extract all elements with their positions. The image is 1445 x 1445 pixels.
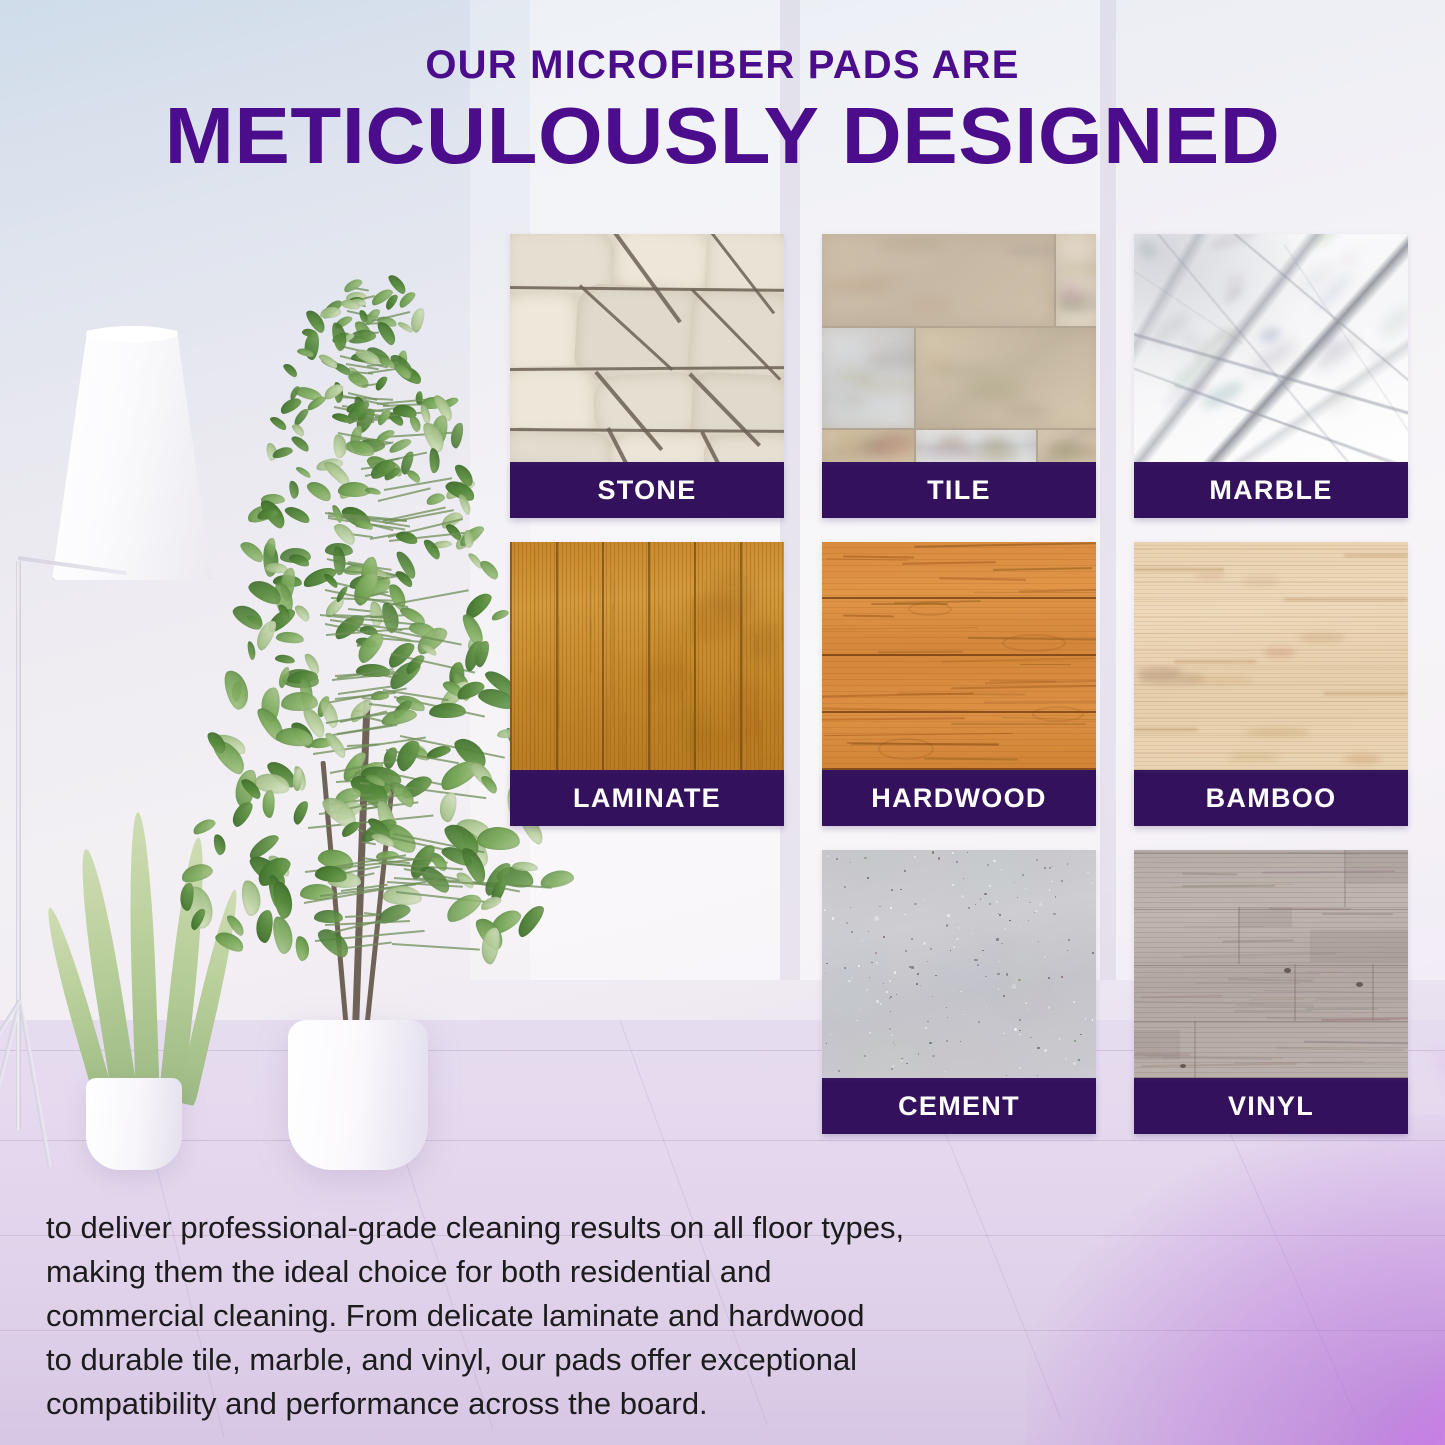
laminate-grain	[534, 550, 536, 666]
ficus-leaf	[437, 790, 459, 823]
cement-speck	[850, 862, 851, 863]
cement-speck	[946, 924, 948, 926]
cement-speck	[1019, 1030, 1021, 1032]
floor-type-label: VINYL	[1134, 1078, 1408, 1134]
cement-speck	[1020, 926, 1021, 927]
cement-speck	[917, 973, 919, 975]
cement-speck	[932, 996, 933, 997]
ficus-leaf	[282, 361, 300, 379]
cement-speck	[930, 948, 931, 949]
cement-speck	[867, 877, 869, 879]
body-copy: to deliver professional-grade cleaning r…	[46, 1206, 1106, 1426]
laminate-blotch	[530, 669, 551, 710]
laminate-grain	[579, 681, 581, 770]
cement-mottle	[924, 1040, 1013, 1078]
vinyl-plank-tone	[1310, 930, 1408, 962]
cement-speck	[1092, 1019, 1094, 1021]
vinyl-texture-swatch	[1134, 850, 1408, 1078]
tile-mottle	[923, 354, 951, 373]
cement-speck	[953, 991, 954, 992]
cement-speck	[880, 1003, 882, 1005]
cement-speck	[824, 909, 826, 911]
laminate-grain	[654, 557, 656, 662]
laminate-grain	[558, 617, 560, 730]
cement-speck	[1091, 882, 1093, 884]
cement-speck	[961, 895, 964, 898]
bamboo-node	[1174, 660, 1256, 663]
bamboo-node	[1344, 554, 1408, 557]
cement-speck	[869, 1032, 871, 1034]
vinyl-grain	[1264, 972, 1320, 974]
tile-mottle	[833, 367, 874, 383]
hardwood-knot	[1032, 706, 1084, 722]
ficus-stem	[333, 724, 398, 736]
cement-speck	[1029, 902, 1031, 904]
ficus-leaf	[254, 909, 275, 944]
hardwood-grain	[984, 701, 1096, 704]
cement-speck	[890, 996, 892, 998]
floor-type-grid: STONETILEMARBLELAMINATEHARDWOODBAMBOOCEM…	[510, 234, 1410, 1150]
laminate-grain	[781, 592, 783, 642]
laminate-texture-swatch	[510, 542, 784, 770]
vinyl-grain	[1322, 913, 1393, 915]
vinyl-plank-tone	[1346, 850, 1408, 884]
cement-speck	[890, 1011, 891, 1012]
cement-mottle	[949, 901, 989, 938]
stone-texture-swatch	[510, 234, 784, 462]
cement-speck	[904, 914, 905, 915]
ficus-leaf	[490, 608, 509, 622]
headline-line-1: OUR MICROFIBER PADS ARE	[0, 44, 1445, 86]
cement-speck	[883, 936, 885, 938]
cement-speck	[1070, 887, 1071, 888]
cement-speck	[1035, 910, 1038, 913]
tile-mottle	[1058, 261, 1096, 274]
laminate-grain	[650, 682, 652, 770]
hardwood-grain	[951, 723, 1086, 725]
vinyl-grain	[1304, 1041, 1408, 1045]
cement-speck	[1080, 1034, 1082, 1036]
cement-speck	[1003, 1033, 1005, 1035]
laminate-grain	[759, 720, 761, 770]
cement-speck	[938, 857, 940, 859]
stone-piece	[510, 292, 578, 374]
floor-type-card-vinyl[interactable]: VINYL	[1134, 850, 1408, 1138]
cement-speck	[1068, 939, 1070, 941]
cement-mottle	[956, 850, 1032, 894]
cement-speck	[832, 917, 834, 919]
cement-speck	[844, 886, 846, 888]
ficus-leaf	[333, 434, 347, 459]
large-planter-pot	[288, 1020, 428, 1170]
marble-texture-swatch	[1134, 234, 1408, 462]
hardwood-grain	[974, 592, 1096, 594]
cement-speck	[1087, 872, 1088, 873]
bamboo-flecks	[1344, 754, 1380, 764]
cement-speck	[946, 1007, 947, 1008]
ficus-leaf	[353, 629, 387, 666]
cement-mottle	[853, 850, 892, 872]
cement-speck	[929, 1042, 932, 1045]
cement-speck	[1078, 1059, 1080, 1061]
vinyl-grain	[1223, 939, 1294, 942]
cement-speck	[889, 998, 890, 999]
laminate-blotch	[709, 572, 755, 619]
marble-mottle	[1339, 251, 1360, 268]
floor-type-label: TILE	[822, 462, 1096, 518]
floor-type-card-cement[interactable]: CEMENT	[822, 850, 1096, 1138]
bamboo-node	[1134, 728, 1198, 731]
cement-speck	[1039, 903, 1041, 905]
cement-speck	[1019, 1067, 1021, 1069]
headline-block: OUR MICROFIBER PADS ARE METICULOUSLY DES…	[0, 44, 1445, 176]
ficus-leaf	[212, 834, 227, 857]
cement-speck	[1092, 952, 1094, 954]
vinyl-grain	[1316, 997, 1408, 1000]
ficus-leaf	[478, 557, 502, 582]
small-planter-pot	[86, 1078, 182, 1170]
cement-speck	[894, 971, 897, 974]
vinyl-grain	[1309, 972, 1408, 974]
cement-speck	[1067, 950, 1068, 951]
bamboo-node	[1324, 692, 1408, 695]
cement-speck	[1014, 1028, 1017, 1031]
ficus-stem	[362, 841, 376, 845]
bamboo-flecks	[1227, 753, 1279, 760]
laminate-blotch	[744, 622, 775, 659]
cement-mottle	[846, 1036, 931, 1071]
cement-speck	[947, 1017, 948, 1018]
cement-speck	[1085, 1018, 1087, 1020]
cement-speck	[1061, 976, 1063, 978]
vinyl-grain	[1195, 983, 1300, 985]
tile-mottle	[1006, 402, 1049, 419]
ficus-leaf	[478, 894, 502, 912]
cement-speck	[978, 1021, 980, 1023]
ficus-leaf	[222, 667, 252, 711]
cement-speck	[889, 1028, 891, 1030]
floor-type-card-stone[interactable]: STONE	[510, 234, 784, 522]
hardwood-grain	[993, 567, 1092, 571]
floor-type-card-marble[interactable]: MARBLE	[1134, 234, 1408, 522]
cement-speck	[1037, 1075, 1038, 1076]
vinyl-grain	[1228, 978, 1313, 982]
floor-lamp-pole	[16, 560, 21, 1130]
cement-speck	[1025, 888, 1026, 889]
bamboo-flecks	[1242, 575, 1278, 587]
laminate-grain	[585, 597, 587, 630]
cement-speck	[868, 931, 869, 932]
floor-type-label: CEMENT	[822, 1078, 1096, 1134]
tile-mottle	[867, 442, 895, 457]
cement-speck	[856, 1020, 857, 1021]
cement-mottle	[822, 934, 881, 996]
cement-speck	[890, 907, 892, 909]
ficus-leaf	[271, 879, 295, 919]
ficus-leaf	[283, 504, 312, 527]
ficus-stem	[392, 943, 480, 951]
cement-speck	[986, 1006, 987, 1007]
cement-speck	[904, 870, 907, 873]
cement-speck	[1044, 956, 1046, 958]
cement-speck	[1073, 1001, 1075, 1003]
bamboo-flecks	[1195, 574, 1225, 579]
floor-type-label: LAMINATE	[510, 770, 784, 826]
cement-speck	[925, 1027, 927, 1029]
cement-speck	[900, 889, 902, 891]
marble-mottle	[1310, 234, 1341, 249]
floor-type-card-bamboo[interactable]: BAMBOO	[1134, 542, 1408, 830]
marble-mottle	[1377, 302, 1408, 340]
cement-speck	[905, 950, 907, 952]
ficus-leaf	[274, 653, 295, 664]
laminate-grain	[613, 581, 615, 611]
ficus-leaf	[295, 465, 312, 480]
hardwood-grain	[939, 577, 1026, 580]
ficus-leaf	[318, 352, 340, 370]
ficus-leaf	[262, 790, 276, 818]
tile-mottle	[910, 297, 955, 312]
cement-speck	[1067, 863, 1068, 864]
hardwood-grain	[822, 627, 978, 630]
cement-speck	[1049, 889, 1050, 890]
cement-speck	[916, 966, 917, 967]
vinyl-grain	[1277, 1047, 1404, 1050]
hardwood-grain	[878, 651, 963, 653]
bamboo-flecks	[1184, 676, 1253, 683]
cement-speck	[932, 851, 934, 853]
vinyl-grain	[1306, 1008, 1378, 1010]
laminate-grain	[589, 546, 591, 676]
cement-speck	[1009, 920, 1010, 921]
tile-mottle	[1047, 445, 1096, 460]
cement-speck	[950, 950, 951, 951]
cement-speck	[976, 959, 978, 961]
vinyl-grain	[1263, 990, 1374, 993]
hardwood-grain	[924, 758, 1018, 761]
ficus-leaf	[314, 909, 343, 923]
floor-lamp-shade-top	[86, 326, 178, 342]
cement-speck	[927, 961, 928, 962]
cement-speck	[916, 983, 918, 985]
ficus-leaf	[449, 422, 465, 449]
laminate-grain	[599, 573, 601, 610]
laminate-grain	[619, 653, 621, 770]
vinyl-grain	[1182, 872, 1237, 875]
cement-speck	[914, 856, 916, 858]
cement-speck	[1034, 912, 1036, 914]
tile-mottle	[1006, 245, 1062, 256]
cement-speck	[911, 966, 914, 969]
ficus-leaf	[405, 468, 422, 484]
hardwood-grain	[843, 614, 894, 617]
ficus-leaf	[180, 861, 215, 885]
vinyl-grain	[1250, 999, 1305, 1001]
vinyl-grain	[1142, 995, 1223, 998]
ficus-leaf	[240, 879, 262, 917]
hardwood-grain	[824, 733, 1013, 736]
tile-mottle	[863, 271, 907, 288]
floor-type-card-laminate[interactable]: LAMINATE	[510, 542, 784, 830]
cement-speck	[923, 942, 925, 944]
tile-texture-swatch	[822, 234, 1096, 462]
hardwood-grain	[1020, 664, 1071, 666]
bamboo-node	[1284, 598, 1408, 601]
ficus-leaf	[290, 799, 310, 826]
laminate-blotch	[641, 662, 689, 691]
bamboo-flecks	[1264, 648, 1295, 658]
ficus-leaf	[425, 491, 446, 506]
cement-speck	[953, 946, 955, 948]
vinyl-grain	[1320, 1016, 1408, 1020]
cement-speck	[1019, 1034, 1021, 1036]
vinyl-knot	[1356, 982, 1363, 987]
body-copy-line: commercial cleaning. From delicate lamin…	[46, 1294, 1106, 1338]
laminate-grain	[612, 605, 614, 726]
cement-speck	[1028, 920, 1029, 921]
laminate-grain	[624, 712, 626, 770]
cement-speck	[980, 955, 981, 956]
hardwood-grain	[951, 685, 1096, 690]
laminate-grain	[665, 687, 667, 763]
cement-speck	[952, 852, 954, 854]
cement-mottle	[1032, 1014, 1079, 1065]
hardwood-knot	[908, 602, 952, 616]
tile-mottle	[980, 443, 1020, 462]
ficus-leaf	[305, 478, 335, 505]
body-copy-line: compatibility and performance across the…	[46, 1382, 1106, 1426]
hardwood-knot	[878, 738, 934, 760]
cement-speck	[889, 980, 891, 982]
cement-speck	[920, 985, 921, 986]
ficus-leaf	[373, 374, 389, 392]
cement-speck	[952, 884, 954, 886]
cement-speck	[891, 889, 893, 891]
body-copy-line: making them the ideal choice for both re…	[46, 1250, 1106, 1294]
vinyl-grain	[1269, 907, 1351, 909]
ficus-leaf	[295, 935, 311, 961]
cement-speck	[989, 903, 991, 905]
ficus-leaf	[228, 799, 255, 829]
ficus-leaf	[346, 696, 375, 725]
hardwood-grain	[914, 543, 1096, 549]
cement-speck	[911, 938, 913, 940]
floor-type-label: BAMBOO	[1134, 770, 1408, 826]
ficus-leaf	[319, 305, 341, 319]
laminate-blotch	[732, 681, 756, 744]
cement-speck	[1061, 880, 1063, 882]
cement-speck	[886, 991, 888, 993]
vinyl-plank-seam	[1194, 1021, 1196, 1078]
cement-speck	[838, 1070, 840, 1072]
floor-type-card-tile[interactable]: TILE	[822, 234, 1096, 522]
cement-speck	[1048, 977, 1050, 979]
cement-speck	[851, 931, 853, 933]
cement-speck	[1019, 1019, 1021, 1021]
laminate-grain	[775, 621, 777, 740]
cement-mottle	[929, 963, 1014, 992]
body-copy-line: to deliver professional-grade cleaning r…	[46, 1206, 1106, 1250]
hardwood-grain	[822, 707, 981, 712]
vinyl-grain	[1307, 1062, 1408, 1066]
ficus-leaf	[246, 641, 256, 661]
cement-speck	[846, 922, 848, 924]
cement-speck	[830, 1034, 831, 1035]
laminate-grain	[538, 623, 540, 659]
body-copy-line: to durable tile, marble, and vinyl, our …	[46, 1338, 1106, 1382]
tile-mottle	[840, 393, 867, 409]
ficus-foliage	[180, 275, 540, 965]
cement-speck	[1055, 896, 1057, 898]
cement-speck	[956, 938, 958, 940]
floor-type-label: HARDWOOD	[822, 770, 1096, 826]
cement-speck	[1073, 1062, 1075, 1064]
cement-speck	[1004, 928, 1006, 930]
cement-speck	[914, 884, 916, 886]
headline-line-2: METICULOUSLY DESIGNED	[0, 96, 1445, 176]
ficus-leaf	[280, 692, 318, 711]
marble-mottle	[1135, 237, 1159, 262]
marble-mottle	[1257, 324, 1282, 346]
cement-speck	[980, 898, 982, 900]
ficus-leaf	[191, 816, 217, 836]
cement-speck	[836, 858, 838, 860]
cement-speck	[827, 855, 829, 857]
cement-speck	[826, 1043, 828, 1045]
hardwood-grain	[822, 717, 965, 720]
marble-mottle	[1211, 325, 1239, 345]
bamboo-flecks	[1245, 728, 1309, 736]
floor-type-card-hardwood[interactable]: HARDWOOD	[822, 542, 1096, 830]
vinyl-grain	[1289, 852, 1359, 854]
vinyl-grain	[1141, 1063, 1297, 1068]
cement-speck	[998, 961, 999, 962]
floor-type-label: STONE	[510, 462, 784, 518]
vinyl-grain	[1185, 926, 1263, 927]
tile-mottle	[1058, 301, 1087, 312]
cement-speck	[963, 1014, 964, 1015]
hardwood-knot	[1002, 634, 1066, 652]
laminate-grain	[607, 684, 609, 770]
cement-speck	[879, 906, 880, 907]
cement-speck	[1053, 913, 1055, 915]
cement-speck	[1038, 941, 1039, 942]
tile-piece	[1056, 234, 1096, 326]
vinyl-knot	[1284, 968, 1291, 973]
ficus-stem	[358, 829, 363, 832]
cement-speck	[883, 983, 884, 984]
vinyl-grain	[1134, 1053, 1190, 1055]
vinyl-grain	[1234, 1010, 1312, 1012]
ficus-leaf	[271, 914, 295, 955]
vinyl-knot	[1180, 1064, 1186, 1068]
cement-speck	[923, 900, 924, 901]
cement-texture-swatch	[822, 850, 1096, 1078]
ficus-leaf	[276, 630, 305, 644]
hardwood-texture-swatch	[822, 542, 1096, 770]
bamboo-flecks	[1298, 633, 1345, 643]
floor-type-label: MARBLE	[1134, 462, 1408, 518]
cement-speck	[999, 914, 1001, 916]
bamboo-node	[1134, 568, 1224, 571]
cement-speck	[850, 907, 851, 908]
laminate-blotch	[678, 702, 709, 754]
cement-speck	[996, 901, 998, 903]
laminate-grain	[586, 682, 588, 768]
cement-speck	[914, 903, 916, 905]
hardwood-grain	[826, 559, 908, 562]
marble-mottle	[1208, 234, 1259, 253]
